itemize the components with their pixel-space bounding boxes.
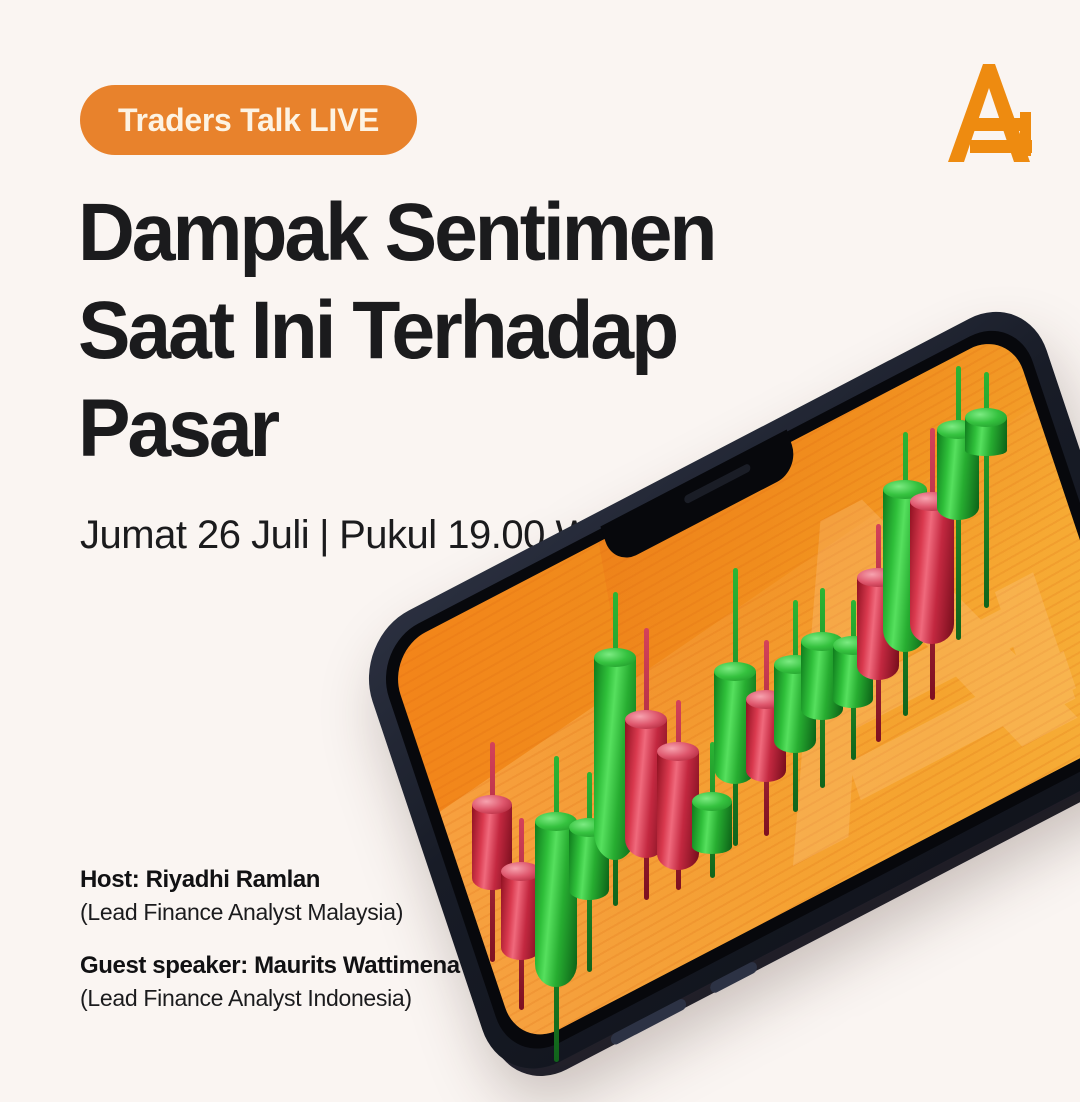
candle-body-surface: [692, 801, 732, 854]
credit-host: Host: Riyadhi Ramlan (Lead Finance Analy…: [80, 866, 460, 926]
credit-name: Host: Riyadhi Ramlan: [80, 866, 460, 894]
candle-body: [569, 818, 609, 900]
candle-body: [774, 655, 816, 753]
candle-body: [535, 812, 577, 987]
candle-body-cap: [594, 648, 636, 667]
candle-body-surface: [625, 719, 667, 858]
schedule-separator: |: [319, 513, 329, 557]
candle-body-cap: [910, 492, 954, 511]
candlestick-red: [910, 428, 954, 700]
candle-wick: [903, 432, 908, 716]
page-title: Dampak Sentimen Saat Ini Terhadap Pasar: [78, 192, 798, 486]
candle-wick: [851, 600, 856, 760]
candlestick-green: [965, 372, 1007, 608]
candlestick-green: [569, 772, 609, 972]
speaker-credits: Host: Riyadhi Ramlan (Lead Finance Analy…: [80, 866, 460, 1012]
candle-body-cap: [657, 742, 699, 761]
candle-body-cap: [569, 818, 609, 837]
schedule-line: Jumat 26 Juli|Pukul 19.00 WIB: [80, 513, 630, 558]
candlestick-red: [501, 818, 541, 1010]
headline-line-2: Saat Ini Terhadap: [78, 290, 769, 372]
candle-body: [937, 420, 979, 520]
candle-body-surface: [965, 417, 1007, 456]
candle-body: [857, 568, 899, 680]
candlestick-green: [714, 568, 756, 846]
candle-body-cap: [857, 568, 899, 587]
candle-wick: [490, 742, 495, 962]
candle-body-surface: [657, 751, 699, 870]
candle-body-surface: [857, 577, 899, 680]
schedule-time: Pukul 19.00 WIB: [339, 513, 629, 557]
candle-wick: [676, 700, 681, 890]
candle-wick: [956, 366, 961, 640]
candlestick-red: [472, 742, 512, 962]
phone-volume-button: [609, 997, 687, 1046]
candle-body-cap: [833, 636, 873, 655]
candle-body: [657, 742, 699, 870]
candle-body: [472, 795, 512, 890]
candle-body-surface: [714, 671, 756, 784]
candle-wick: [820, 588, 825, 788]
headline-line-3: Pasar: [78, 388, 769, 470]
candle-body-cap: [535, 812, 577, 831]
candle-wick: [644, 628, 649, 900]
candle-body: [910, 492, 954, 644]
candlestick-red: [657, 700, 699, 890]
candle-wick: [554, 756, 559, 1062]
candle-wick: [984, 372, 989, 608]
candlestick-green: [594, 592, 636, 906]
candlestick-green: [937, 366, 979, 640]
candlestick-green: [535, 756, 577, 1062]
phone-power-button: [709, 960, 759, 995]
candle-body-surface: [910, 501, 954, 644]
candle-body-cap: [625, 710, 667, 729]
brand-logo-icon: [934, 58, 1038, 166]
candlestick-red: [857, 524, 899, 742]
live-badge-label: Traders Talk LIVE: [118, 102, 379, 139]
candle-body-cap: [714, 662, 756, 681]
schedule-date: Jumat 26 Juli: [80, 513, 309, 557]
candle-body-surface: [833, 645, 873, 708]
candle-body: [692, 792, 732, 854]
candle-wick: [587, 772, 592, 972]
candle-body: [801, 632, 843, 720]
candle-body-cap: [746, 690, 786, 709]
candle-body-surface: [594, 657, 636, 860]
candle-body: [625, 710, 667, 858]
candle-body-surface: [937, 429, 979, 520]
candle-body: [746, 690, 786, 782]
candle-body: [594, 648, 636, 860]
candlestick-green: [883, 432, 927, 716]
live-badge: Traders Talk LIVE: [80, 85, 417, 155]
candle-body-surface: [883, 489, 927, 652]
candle-body-surface: [501, 871, 541, 960]
candle-body-cap: [692, 792, 732, 811]
candle-body-surface: [569, 827, 609, 900]
candlestick-green: [801, 588, 843, 788]
screen-light-wedge: [390, 394, 1080, 1050]
candle-body-cap: [883, 480, 927, 499]
candle-body-cap: [801, 632, 843, 651]
candle-body: [501, 862, 541, 960]
candle-body-surface: [472, 804, 512, 890]
candle-body-cap: [965, 408, 1007, 427]
candle-body-surface: [801, 641, 843, 720]
candle-wick: [930, 428, 935, 700]
candle-body: [883, 480, 927, 652]
candle-body-cap: [472, 795, 512, 814]
candle-wick: [519, 818, 524, 1010]
candle-body-cap: [937, 420, 979, 439]
candlestick-green: [833, 600, 873, 760]
candlestick-green: [774, 600, 816, 812]
candle-body-surface: [774, 664, 816, 753]
candle-wick: [613, 592, 618, 906]
candle-body: [833, 636, 873, 708]
candlestick-green: [692, 742, 732, 878]
candlestick-red: [746, 640, 786, 836]
candle-body-surface: [746, 699, 786, 782]
candle-wick: [876, 524, 881, 742]
credit-guest: Guest speaker: Maurits Wattimena (Lead F…: [80, 952, 460, 1012]
candle-wick: [733, 568, 738, 846]
candle-body: [965, 408, 1007, 456]
candle-wick: [793, 600, 798, 812]
candlestick-red: [625, 628, 667, 900]
candle-wick: [764, 640, 769, 836]
headline-line-1: Dampak Sentimen: [78, 192, 769, 274]
candle-body-cap: [774, 655, 816, 674]
candle-body-surface: [535, 821, 577, 987]
credit-role: (Lead Finance Analyst Indonesia): [80, 985, 460, 1012]
credit-role: (Lead Finance Analyst Malaysia): [80, 899, 460, 926]
credit-name: Guest speaker: Maurits Wattimena: [80, 952, 460, 980]
candle-wick: [710, 742, 715, 878]
candle-body: [714, 662, 756, 784]
candle-body-cap: [501, 862, 541, 881]
